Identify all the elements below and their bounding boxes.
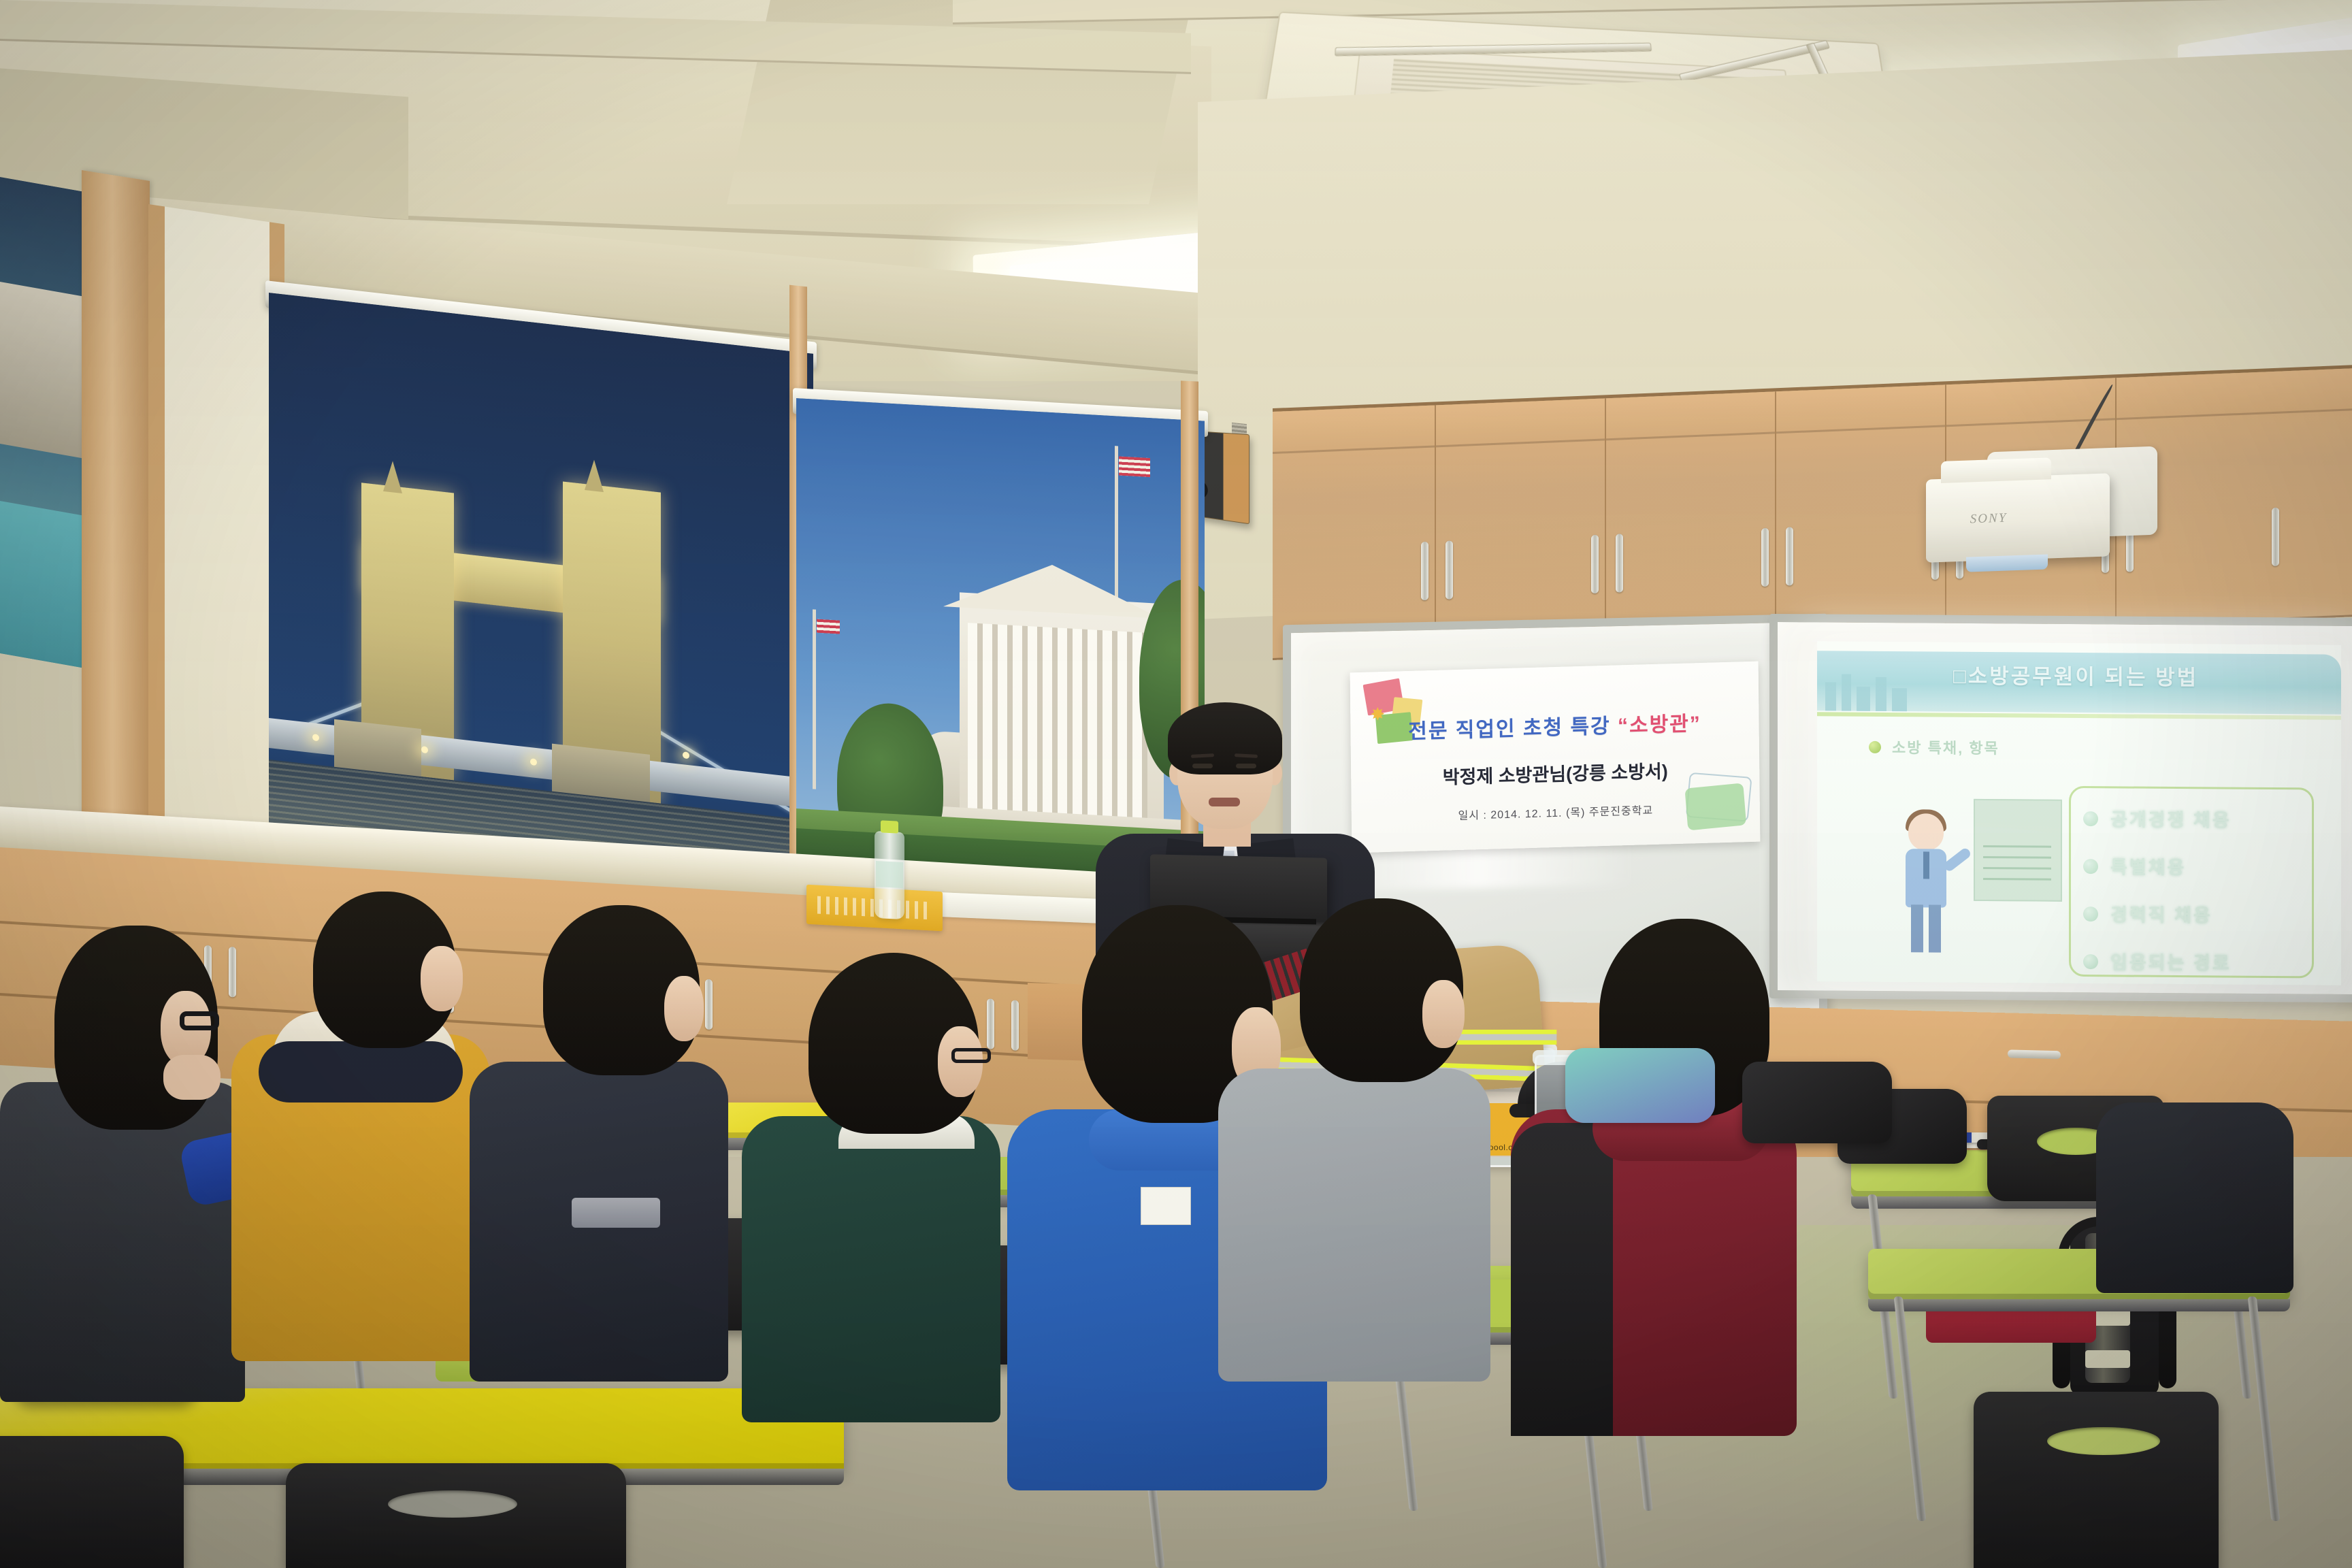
cabinet-handle[interactable] [1761,528,1769,587]
slide-list-item: 경력직 채용 [2110,900,2212,927]
student-gray-fleece [1218,898,1518,1375]
poster-title-main: 전문 직업인 초청 특강 [1408,715,1611,743]
student-gray-jacket [1218,1068,1490,1382]
projector-mount-arm [1941,457,2051,483]
window-panel-blank [148,204,284,857]
mural-building [0,282,82,458]
bridge-spire [383,460,402,493]
poster-title-highlight: 소방관 [1629,713,1690,736]
water-bottle [875,831,904,919]
poster-title-quote-close: ” [1690,713,1701,735]
student-cardigan [742,1116,1000,1422]
student-puffer-jacket [0,1082,245,1402]
presenter-mouth [1209,798,1240,806]
jacket-brand-logo [572,1198,660,1228]
bridge-lamp [683,751,689,759]
chair-back-handle-hole [388,1490,517,1518]
slide-title: □소방공무원이 되는 방법 [1953,659,2198,691]
cylinder-band [2085,1350,2130,1368]
desk-edge [1868,1299,2290,1311]
chair-back-handle-hole [2047,1427,2160,1455]
slide-clipart-board [1974,799,2062,902]
student-face [664,976,704,1041]
clipart-board-line [1983,867,2051,870]
window-column [82,170,150,862]
student-eyeglasses [951,1048,991,1063]
student-hand [163,1055,220,1100]
student-maroon-puffer [1511,919,1824,1436]
slide-skyline-graphic [1821,670,1930,711]
classroom-photo: SONY ✸ 전문 직업인 초청 특강 “소방관” 박정제 소방관님(강릉 소방… [0,0,2352,1568]
cabinet-handle[interactable] [2272,508,2279,566]
presenter-eye [1192,764,1213,768]
clipart-arm [1942,847,1972,873]
flagpole [813,609,816,789]
clipart-head [1908,813,1944,850]
cabinet-handle[interactable] [1445,540,1453,599]
clipart-board-line [1983,856,2051,859]
clipart-leg [1911,904,1923,952]
cabinet-handle[interactable] [1591,535,1599,593]
clipart-board-line [1983,845,2051,848]
projector-brand-label: SONY [1970,511,2007,527]
bottle-label [876,861,903,888]
presenter-eye [1236,764,1256,768]
bottle-cap [881,820,898,833]
event-poster: ✸ 전문 직업인 초청 특강 “소방관” 박정제 소방관님(강릉 소방서) 일시… [1350,661,1761,853]
student-face [421,946,463,1011]
student-jacket-panel-dark [1511,1123,1613,1436]
clipart-leg [1929,904,1941,952]
cabinet-handle[interactable] [1616,534,1623,592]
student-right-edge [2096,939,2300,1293]
slide-clipart-person [1891,813,1972,957]
cabinet-door[interactable] [1776,385,1946,640]
slide-list-item: 특별채용 [2110,852,2186,879]
folded-fabric-bundle [1565,1048,1715,1123]
projected-slide: □소방공무원이 되는 방법 소방 특채, 항목 공개경쟁 채용 특별채용 경력직… [1817,641,2341,985]
student-eyeglasses [180,1011,219,1030]
jacket-brand-text [1535,1245,1637,1270]
us-flag [1119,456,1150,477]
clipart-board-line [1983,878,2051,881]
backpack-on-desk [1742,1062,1892,1143]
student-jacket [2096,1102,2293,1293]
bridge-spire [585,459,604,492]
mural-sea [0,501,82,668]
student-uniform-cardigan [742,946,1028,1422]
cabinet-handle[interactable] [1421,542,1428,600]
chair-foreground-left[interactable] [0,1436,184,1568]
presenter-hair [1168,702,1282,774]
slide-subheading: 소방 특채, 항목 [1892,736,1999,758]
clipart-tie [1923,851,1929,879]
chair-front-right[interactable] [1974,1392,2219,1568]
student-name-tag [1141,1187,1191,1225]
slide-list-item: 공개경쟁 채용 [2110,804,2232,832]
student-hood-collar [259,1041,463,1102]
cabinet-handle[interactable] [2008,1049,2061,1059]
chair-foreground-center[interactable] [286,1463,626,1568]
projector-lens [1966,554,2048,572]
student-navy-puffer [470,905,755,1382]
cabinet-door[interactable] [1436,398,1606,653]
cabinet-door[interactable] [1606,391,1776,647]
cabinet-handle[interactable] [1786,527,1793,585]
ceiling-projector: SONY [1926,473,2110,562]
mural-far-left [0,177,82,668]
student-face [1422,980,1465,1048]
us-flag [817,619,840,634]
poster-title-quote-open: “ [1618,715,1629,737]
